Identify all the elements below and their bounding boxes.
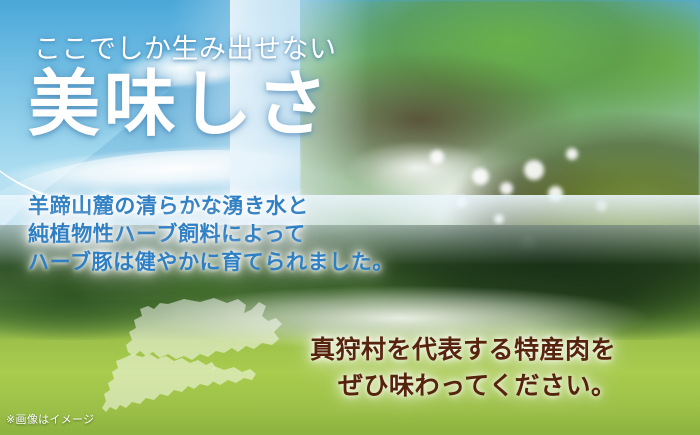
body-copy-line-1: 羊蹄山麓の清らかな湧き水と (28, 192, 394, 220)
hero-headline: 美味しさ (28, 68, 332, 140)
body-copy-line-3: ハーブ豚は健やかに育てられました。 (28, 248, 394, 276)
body-copy-line-2: 純植物性ハーブ飼料によって (28, 220, 394, 248)
promotional-banner: ここでしか生み出せない 美味しさ 羊蹄山麓の清らかな湧き水と 純植物性ハーブ飼料… (0, 0, 700, 435)
cta-line-2: ぜひ味わってください。 (310, 368, 617, 404)
body-copy: 羊蹄山麓の清らかな湧き水と 純植物性ハーブ飼料によって ハーブ豚は健やかに育てら… (28, 192, 394, 276)
bokeh-sparkle (430, 150, 444, 164)
bokeh-sparkle (472, 168, 489, 185)
bokeh-sparkle (566, 148, 578, 160)
cta-line-1: 真狩村を代表する特産肉を (310, 335, 616, 364)
bokeh-sparkle (500, 182, 513, 195)
hokkaido-map-silhouette (96, 296, 311, 428)
bokeh-sparkle (524, 160, 544, 180)
cta-text: 真狩村を代表する特産肉を ぜひ味わってください。 (310, 332, 617, 404)
image-disclaimer: ※画像はイメージ (6, 411, 94, 427)
